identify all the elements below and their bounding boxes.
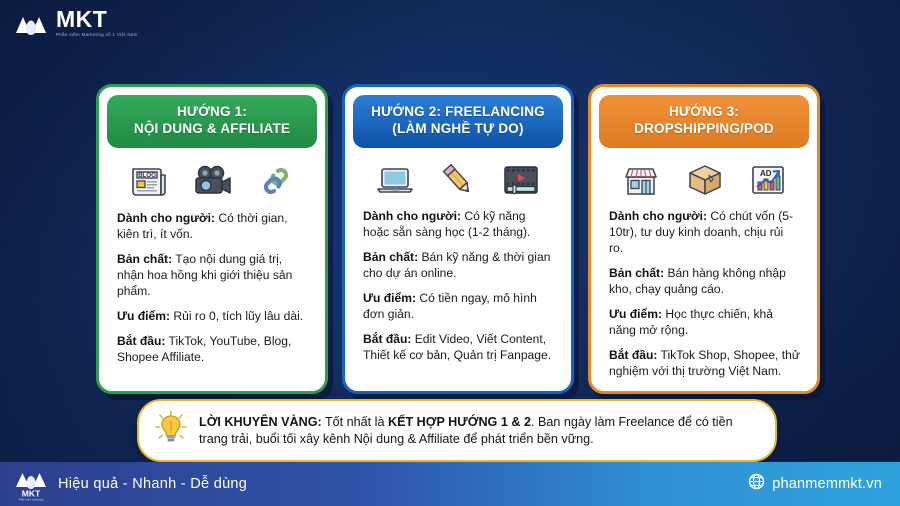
advice-lead: LỜI KHUYÊN VÀNG: bbox=[199, 415, 322, 429]
storefront-icon bbox=[621, 162, 661, 198]
strategy-cards: HƯỚNG 1: NỘI DUNG & AFFILIATE BLOG bbox=[96, 84, 822, 394]
card-3-title-line2: DROPSHIPPING/POD bbox=[605, 121, 803, 138]
card-1-row-3: Bắt đầu: TikTok, YouTube, Blog, Shopee A… bbox=[117, 333, 308, 365]
card-2-row-3: Bắt đầu: Edit Video, Viết Content, Thiết… bbox=[363, 331, 554, 363]
link-chain-icon bbox=[257, 162, 295, 200]
card-2-title-line1: HƯỚNG 2: FREELANCING bbox=[359, 104, 557, 121]
pencil-icon bbox=[439, 162, 477, 198]
card-3-icons: AD bbox=[599, 148, 809, 208]
footer-mkt-logo-icon: MKT Phần mềm marketing bbox=[14, 469, 48, 499]
card-2-icons bbox=[353, 148, 563, 208]
card-1-icons: BLOG bbox=[107, 148, 317, 210]
ad-growth-chart-icon: AD bbox=[749, 162, 787, 198]
footer-slogan: Hiệu quả - Nhanh - Dễ dùng bbox=[58, 476, 247, 492]
card-huong-3[interactable]: HƯỚNG 3: DROPSHIPPING/POD bbox=[588, 84, 820, 394]
golden-advice-banner: LỜI KHUYÊN VÀNG: Tốt nhất là KẾT HỢP HƯỚ… bbox=[137, 399, 777, 462]
card-1-row-0: Dành cho người: Có thời gian, kiên trì, … bbox=[117, 210, 308, 242]
svg-text:MKT: MKT bbox=[22, 489, 41, 499]
card-3-header: HƯỚNG 3: DROPSHIPPING/POD bbox=[599, 95, 809, 148]
brand-logo-tagline: Phần mềm Marketing số 1 Việt Nam bbox=[56, 33, 138, 37]
card-1-row-1: Bản chất: Tạo nội dung giá trị, nhận hoa… bbox=[117, 251, 308, 299]
video-editor-icon bbox=[501, 162, 541, 198]
footer-website-text: phanmemmkt.vn bbox=[772, 476, 882, 492]
mkt-mountain-icon bbox=[14, 9, 48, 37]
video-camera-icon bbox=[192, 163, 234, 199]
card-1-body: Dành cho người: Có thời gian, kiên trì, … bbox=[107, 210, 317, 366]
advice-text: LỜI KHUYÊN VÀNG: Tốt nhất là KẾT HỢP HƯỚ… bbox=[199, 414, 759, 448]
card-3-title-line1: HƯỚNG 3: bbox=[605, 104, 803, 121]
card-2-row-2: Ưu điểm: Có tiền ngay, mô hình đơn giản. bbox=[363, 290, 554, 322]
card-3-row-1: Bản chất: Bán hàng không nhập kho, chạy … bbox=[609, 265, 800, 297]
card-1-row-2: Ưu điểm: Rủi ro 0, tích lũy lâu dài. bbox=[117, 308, 308, 324]
card-3-row-0: Dành cho người: Có chút vốn (5-10tr), tư… bbox=[609, 208, 800, 256]
card-3-body: Dành cho người: Có chút vốn (5-10tr), tư… bbox=[599, 208, 809, 380]
card-2-body: Dành cho người: Có kỹ năng hoặc sẵn sàng… bbox=[353, 208, 563, 364]
advice-strong: KẾT HỢP HƯỚNG 1 & 2 bbox=[388, 415, 531, 429]
svg-text:AD: AD bbox=[760, 169, 772, 178]
svg-text:BLOG: BLOG bbox=[138, 172, 156, 179]
globe-icon bbox=[748, 473, 765, 495]
card-3-row-3: Bắt đầu: TikTok Shop, Shopee, thử nghiệm… bbox=[609, 347, 800, 379]
laptop-icon bbox=[375, 163, 415, 197]
blog-newspaper-icon: BLOG bbox=[129, 163, 169, 199]
card-3-row-2: Ưu điểm: Học thực chiến, khả năng mở rộn… bbox=[609, 306, 800, 338]
card-2-header: HƯỚNG 2: FREELANCING (LÀM NGHỀ TỰ DO) bbox=[353, 95, 563, 148]
card-huong-2[interactable]: HƯỚNG 2: FREELANCING (LÀM NGHỀ TỰ DO) bbox=[342, 84, 574, 394]
lightbulb-icon bbox=[153, 409, 189, 452]
card-huong-1[interactable]: HƯỚNG 1: NỘI DUNG & AFFILIATE BLOG bbox=[96, 84, 328, 394]
advice-part1: Tốt nhất là bbox=[322, 415, 388, 429]
footer-website[interactable]: phanmemmkt.vn bbox=[748, 473, 900, 495]
card-1-title-line1: HƯỚNG 1: bbox=[113, 104, 311, 121]
brand-logo-text: MKT bbox=[56, 8, 138, 31]
brand-logo: MKT Phần mềm Marketing số 1 Việt Nam bbox=[14, 8, 138, 37]
card-1-title-line2: NỘI DUNG & AFFILIATE bbox=[113, 121, 311, 138]
svg-text:Phần mềm marketing: Phần mềm marketing bbox=[19, 497, 44, 501]
card-2-title-line2: (LÀM NGHỀ TỰ DO) bbox=[359, 121, 557, 138]
card-2-row-0: Dành cho người: Có kỹ năng hoặc sẵn sàng… bbox=[363, 208, 554, 240]
package-box-icon bbox=[685, 162, 725, 198]
footer-brand: MKT Phần mềm marketing Hiệu quả - Nhanh … bbox=[0, 469, 247, 499]
card-1-header: HƯỚNG 1: NỘI DUNG & AFFILIATE bbox=[107, 95, 317, 148]
footer-bar: MKT Phần mềm marketing Hiệu quả - Nhanh … bbox=[0, 462, 900, 506]
card-2-row-1: Bản chất: Bán kỹ năng & thời gian cho dự… bbox=[363, 249, 554, 281]
